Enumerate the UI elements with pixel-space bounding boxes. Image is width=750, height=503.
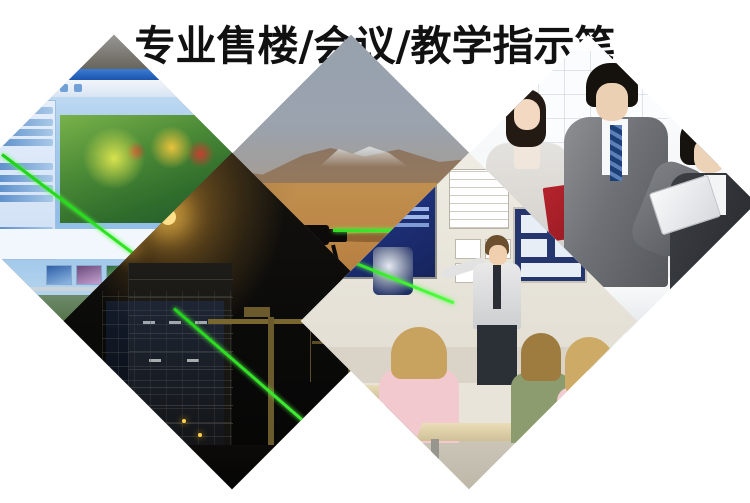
diamond-collage (0, 88, 750, 503)
